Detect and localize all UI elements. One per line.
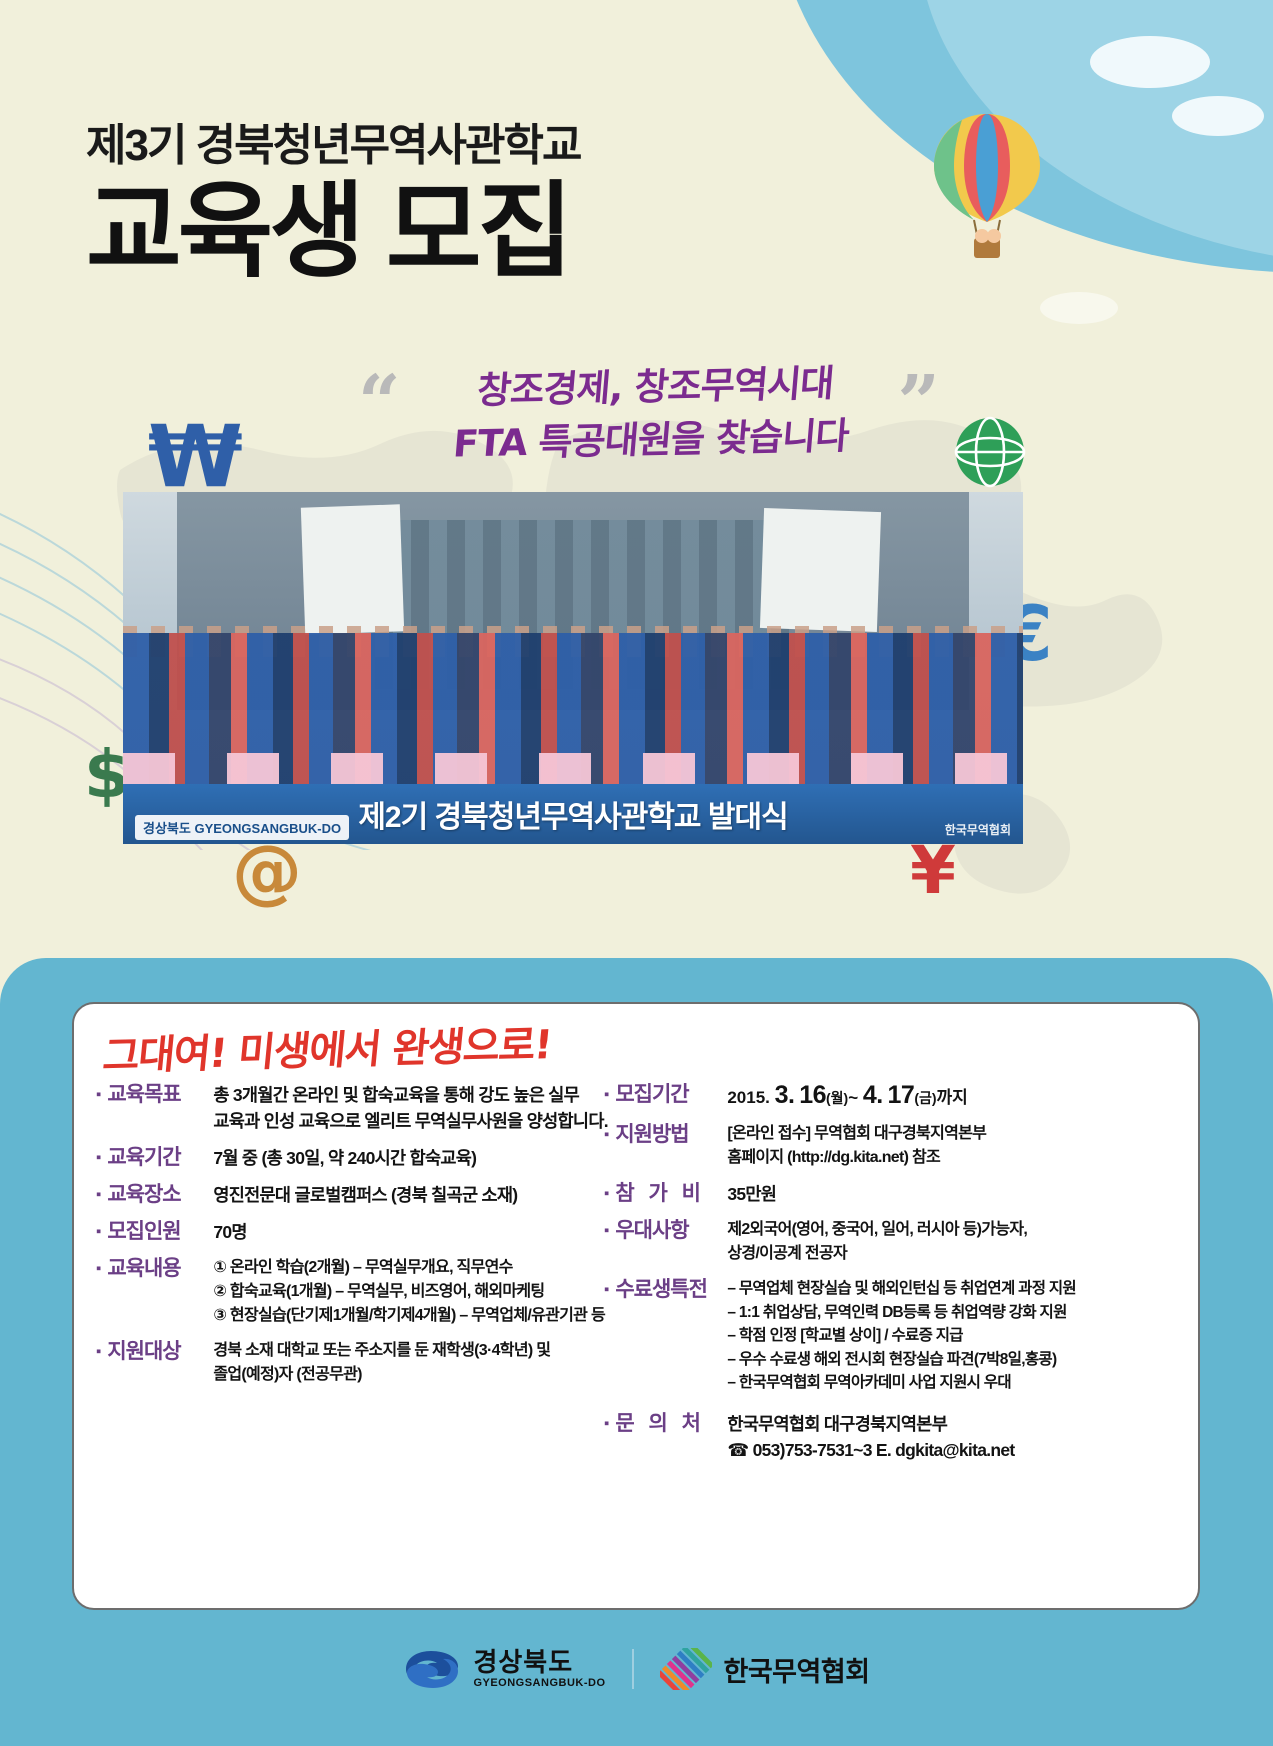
- row-value: 총 3개월간 온라인 및 합숙교육을 통해 강도 높은 실무 교육과 인성 교육…: [213, 1082, 616, 1134]
- row-value-line: 70명: [213, 1219, 616, 1245]
- application-website-line[interactable]: 홈페이지 (http://dg.kita.net) 참조: [727, 1146, 1164, 1170]
- bullet-icon: ▪: [604, 1411, 609, 1437]
- info-row-education-goal: ▪ 교육목표 총 3개월간 온라인 및 합숙교육을 통해 강도 높은 실무 교육…: [96, 1082, 616, 1134]
- bullet-icon: ▪: [96, 1145, 101, 1171]
- row-label: 참 가 비: [615, 1181, 727, 1207]
- row-value: 영진전문대 글로벌캠퍼스 (경북 칠곡군 소재): [213, 1182, 616, 1208]
- row-label: 교육내용: [107, 1256, 213, 1282]
- row-value: – 무역업체 현장실습 및 해외인턴십 등 취업연계 과정 지원 – 1:1 취…: [727, 1277, 1164, 1395]
- info-row-contact: ▪ 문 의 처 한국무역협회 대구경북지역본부 ☎ 053)753-7531~3…: [604, 1411, 1164, 1463]
- photo-banner-board-right: [760, 508, 881, 632]
- row-value: 2015. 3. 16(월)~ 4. 17(금)까지: [727, 1082, 967, 1111]
- info-row-education-period: ▪ 교육기간 7월 중 (총 30일, 약 240시간 합숙교육): [96, 1145, 616, 1171]
- gyeongsangbuk-do-mark-icon: [403, 1649, 461, 1689]
- yen-currency-icon: ¥: [910, 838, 956, 904]
- info-row-curriculum: ▪ 교육내용 ① 온라인 학습(2개월) – 무역실무개요, 직무연수 ② 합숙…: [96, 1256, 616, 1328]
- bullet-icon: ▪: [96, 1256, 101, 1282]
- row-label: 수료생특전: [615, 1277, 727, 1303]
- row-label: 교육장소: [107, 1182, 213, 1208]
- info-row-preferential: ▪ 우대사항 제2외국어(영어, 중국어, 일어, 러시아 등)가능자, 상경/…: [604, 1218, 1164, 1266]
- row-value-line: ③ 현장실습(단기제1개월/학기제4개월) – 무역업체/유관기관 등: [213, 1304, 616, 1328]
- row-value-line: – 무역업체 현장실습 및 해외인턴십 등 취업연계 과정 지원: [727, 1277, 1164, 1301]
- bullet-icon: ▪: [604, 1181, 609, 1207]
- tagline-line-1: 창조경제, 창조무역시대: [408, 356, 903, 419]
- photo-banner-left-logo: 경상북도 GYEONGSANGBUK-DO: [135, 815, 349, 840]
- period-year: 2015.: [727, 1088, 770, 1107]
- row-value-line: 영진전문대 글로벌캠퍼스 (경북 칠곡군 소재): [213, 1182, 616, 1208]
- row-value: 한국무역협회 대구경북지역본부 ☎ 053)753-7531~3 E. dgki…: [727, 1411, 1164, 1463]
- logo-divider: [632, 1649, 634, 1689]
- row-label: 문 의 처: [615, 1411, 727, 1437]
- row-value-line: 경북 소재 대학교 또는 주소지를 둔 재학생(3·4학년) 및: [213, 1339, 616, 1363]
- headline-block: 제3기 경북청년무역사관학교 교육생 모집: [86, 122, 846, 289]
- poster-title: 교육생 모집: [86, 176, 846, 288]
- row-value-line: 교육과 인성 교육으로 엘리트 무역실무사원을 양성합니다.: [213, 1108, 616, 1134]
- period-start-day: 16: [799, 1081, 826, 1109]
- kita-logo: 한국무역협회: [660, 1648, 870, 1690]
- row-value-line: 상경/이공계 전공자: [727, 1242, 1164, 1266]
- row-value-line: ② 합숙교육(1개월) – 무역실무, 비즈영어, 해외마케팅: [213, 1280, 616, 1304]
- info-row-application-period: ▪ 모집기간 2015. 3. 16(월)~ 4. 17(금)까지: [604, 1082, 1164, 1111]
- poster-kicker: 제3기 경북청년무역사관학교: [86, 122, 846, 170]
- row-value-line: ① 온라인 학습(2개월) – 무역실무개요, 직무연수: [213, 1256, 616, 1280]
- contact-phone-email-line[interactable]: ☎ 053)753-7531~3 E. dgkita@kita.net: [727, 1437, 1164, 1463]
- kita-mark-icon: [660, 1648, 712, 1690]
- period-tilde: ~: [848, 1088, 858, 1107]
- row-value-line: [온라인 접수] 무역협회 대구경북지역본부: [727, 1122, 1164, 1146]
- row-value-line: – 학점 인정 [학교별 상이] / 수료증 지급: [727, 1324, 1164, 1348]
- photo-banner-text: 제2기 경북청년무역사관학교 발대식: [358, 792, 787, 836]
- row-label: 우대사항: [615, 1218, 727, 1244]
- bullet-icon: ▪: [96, 1082, 101, 1108]
- row-value-line: 7월 중 (총 30일, 약 240시간 합숙교육): [213, 1145, 616, 1171]
- row-value: 35만원: [727, 1181, 1164, 1207]
- cloud-decoration: [1040, 292, 1118, 324]
- row-value-line: – 1:1 취업상담, 무역인력 DB등록 등 취업역량 강화 지원: [727, 1301, 1164, 1325]
- globe-icon: [952, 414, 1028, 490]
- period-end-dow: (금): [914, 1090, 936, 1106]
- row-value-line: – 한국무역협회 무역아카데미 사업 지원시 우대: [727, 1371, 1164, 1395]
- info-row-education-venue: ▪ 교육장소 영진전문대 글로벌캠퍼스 (경북 칠곡군 소재): [96, 1182, 616, 1208]
- event-photo: 제2기 경북청년무역사관학교 발대식 경상북도 GYEONGSANGBUK-DO…: [123, 492, 1023, 844]
- row-value-line: 제2외국어(영어, 중국어, 일어, 러시아 등)가능자,: [727, 1218, 1164, 1242]
- quote-close-icon: ”: [897, 366, 940, 440]
- row-value: 7월 중 (총 30일, 약 240시간 합숙교육): [213, 1145, 616, 1171]
- row-value: 경북 소재 대학교 또는 주소지를 둔 재학생(3·4학년) 및 졸업(예정)자…: [213, 1339, 616, 1387]
- info-row-graduate-benefits: ▪ 수료생특전 – 무역업체 현장실습 및 해외인턴십 등 취업연계 과정 지원…: [604, 1277, 1164, 1395]
- at-sign-icon: @: [232, 836, 302, 906]
- info-column-right: ▪ 모집기간 2015. 3. 16(월)~ 4. 17(금)까지 ▪ 지원방법…: [604, 1082, 1164, 1474]
- gyeongsangbuk-do-korean-name: 경상북도: [473, 1649, 605, 1675]
- gyeongsangbuk-do-english-name: GYEONGSANGBUK-DO: [473, 1678, 605, 1689]
- footer-logos: 경상북도 GYEONGSANGBUK-DO 한국무역협회: [0, 1648, 1273, 1690]
- row-value-line: 졸업(예정)자 (전공무관): [213, 1363, 616, 1387]
- row-label: 교육목표: [107, 1082, 213, 1108]
- row-value-line: 총 3개월간 온라인 및 합숙교육을 통해 강도 높은 실무: [213, 1082, 616, 1108]
- gyeongsangbuk-do-logo-text: 경상북도 GYEONGSANGBUK-DO: [473, 1649, 605, 1689]
- row-value: ① 온라인 학습(2개월) – 무역실무개요, 직무연수 ② 합숙교육(1개월)…: [213, 1256, 616, 1328]
- bullet-icon: ▪: [96, 1339, 101, 1365]
- poster-root: 제3기 경북청년무역사관학교 교육생 모집 “ ” 창조경제, 창조무역시대 F…: [0, 0, 1273, 1746]
- row-label: 지원대상: [107, 1339, 213, 1365]
- row-value: 제2외국어(영어, 중국어, 일어, 러시아 등)가능자, 상경/이공계 전공자: [727, 1218, 1164, 1266]
- bullet-icon: ▪: [96, 1219, 101, 1245]
- row-value: 70명: [213, 1219, 616, 1245]
- info-row-how-to-apply: ▪ 지원방법 [온라인 접수] 무역협회 대구경북지역본부 홈페이지 (http…: [604, 1122, 1164, 1170]
- row-value-line: 한국무역협회 대구경북지역본부: [727, 1411, 1164, 1437]
- photo-banner-right-logo: 한국무역협회: [945, 821, 1011, 838]
- cloud-decoration: [1090, 36, 1210, 88]
- row-value: [온라인 접수] 무역협회 대구경북지역본부 홈페이지 (http://dg.k…: [727, 1122, 1164, 1170]
- row-label: 교육기간: [107, 1145, 213, 1171]
- photo-flower-row: [123, 753, 1023, 785]
- won-currency-icon: ₩: [148, 414, 243, 500]
- period-end-month: 4.: [863, 1081, 883, 1109]
- bullet-icon: ▪: [604, 1082, 609, 1108]
- info-row-recruit-count: ▪ 모집인원 70명: [96, 1219, 616, 1245]
- period-start-month: 3.: [775, 1081, 795, 1109]
- info-row-fee: ▪ 참 가 비 35만원: [604, 1181, 1164, 1207]
- row-label: 모집인원: [107, 1219, 213, 1245]
- row-value-line: 35만원: [727, 1181, 1164, 1207]
- period-end-day: 17: [888, 1081, 915, 1109]
- cloud-decoration: [1172, 96, 1264, 136]
- bullet-icon: ▪: [96, 1182, 101, 1208]
- info-row-eligibility: ▪ 지원대상 경북 소재 대학교 또는 주소지를 둔 재학생(3·4학년) 및 …: [96, 1339, 616, 1387]
- bullet-icon: ▪: [604, 1218, 609, 1244]
- row-label: 모집기간: [615, 1082, 727, 1108]
- tagline-line-2: FTA 특공대원을 찾습니다: [403, 409, 898, 472]
- hot-air-balloon-icon: [922, 108, 1052, 268]
- bullet-icon: ▪: [604, 1122, 609, 1148]
- row-value-line: – 우수 수료생 해외 전시회 현장실습 파견(7박8일,홍콩): [727, 1348, 1164, 1372]
- photo-banner-strip: 제2기 경북청년무역사관학교 발대식 경상북도 GYEONGSANGBUK-DO…: [123, 784, 1023, 844]
- card-slogan: 그대여! 미생에서 완생으로!: [101, 1012, 555, 1082]
- period-suffix: 까지: [937, 1088, 968, 1107]
- bullet-icon: ▪: [604, 1277, 609, 1303]
- row-label: 지원방법: [615, 1122, 727, 1148]
- tagline-block: “ ” 창조경제, 창조무역시대 FTA 특공대원을 찾습니다: [358, 362, 898, 467]
- period-start-dow: (월): [826, 1090, 848, 1106]
- photo-banner-board-left: [301, 504, 404, 634]
- gyeongsangbuk-do-logo: 경상북도 GYEONGSANGBUK-DO: [403, 1649, 605, 1689]
- info-column-left: ▪ 교육목표 총 3개월간 온라인 및 합숙교육을 통해 강도 높은 실무 교육…: [96, 1082, 616, 1398]
- kita-logo-text: 한국무역협회: [724, 1650, 870, 1689]
